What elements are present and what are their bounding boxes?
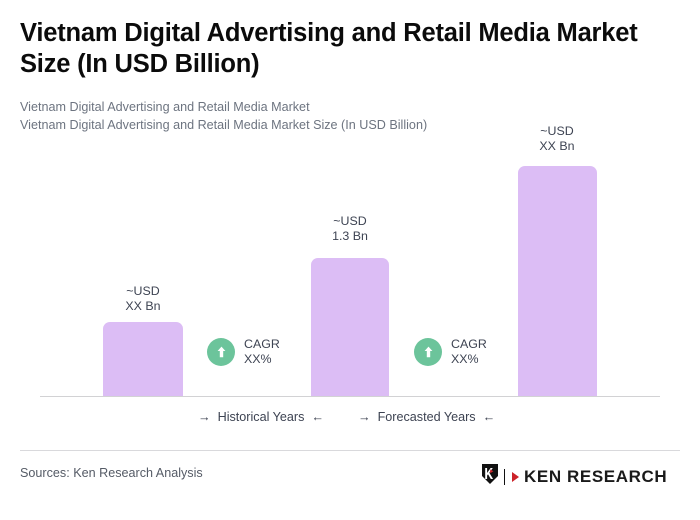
bar-forecast[interactable] xyxy=(518,166,597,396)
period-forecast-label: Forecasted Years xyxy=(378,410,476,424)
arrow-left-icon: ← xyxy=(311,411,324,424)
bar-label-2-line1: ~USD xyxy=(310,214,390,229)
cagr-forecast-line2: XX% xyxy=(451,352,479,366)
bar-label-1: ~USD XX Bn xyxy=(103,284,183,313)
cagr-historical-line1: CAGR xyxy=(244,337,280,351)
sources-text: Sources: Ken Research Analysis xyxy=(20,466,203,480)
bar-label-3: ~USD XX Bn xyxy=(517,124,597,153)
cagr-historical: CAGR XX% xyxy=(207,337,280,366)
bar-label-2-line2: 1.3 Bn xyxy=(310,229,390,244)
bar-label-3-line1: ~USD xyxy=(517,124,597,139)
cagr-historical-text: CAGR XX% xyxy=(244,337,280,366)
bar-label-3-line2: XX Bn xyxy=(517,139,597,154)
period-historical-label: Historical Years xyxy=(218,410,305,424)
arrow-right-icon: → xyxy=(198,411,211,424)
ken-research-logo: KEN RESEARCH xyxy=(481,463,667,490)
bar-label-1-line1: ~USD xyxy=(103,284,183,299)
red-triangle-icon xyxy=(512,472,519,482)
cagr-forecast: CAGR XX% xyxy=(414,337,487,366)
bar-label-2: ~USD 1.3 Bn xyxy=(310,214,390,243)
logo-divider xyxy=(504,469,505,485)
plot-area: ~USD XX Bn CAGR XX% ~USD 1.3 Bn xyxy=(0,0,700,440)
period-forecast: → Forecasted Years ← xyxy=(358,410,495,424)
cagr-forecast-text: CAGR XX% xyxy=(451,337,487,366)
cagr-forecast-line1: CAGR xyxy=(451,337,487,351)
chart-page: Vietnam Digital Advertising and Retail M… xyxy=(0,0,700,520)
cagr-historical-line2: XX% xyxy=(244,352,272,366)
arrow-right-icon: → xyxy=(358,411,371,424)
logo-wordmark: KEN RESEARCH xyxy=(524,467,667,487)
arrow-up-icon xyxy=(207,338,235,366)
axis-baseline xyxy=(40,396,660,397)
bar-current[interactable] xyxy=(311,258,389,396)
bar-historical[interactable] xyxy=(103,322,183,396)
footer-divider xyxy=(20,450,680,451)
period-historical: → Historical Years ← xyxy=(198,410,324,424)
arrow-left-icon: ← xyxy=(483,411,496,424)
arrow-up-icon xyxy=(414,338,442,366)
ken-research-shield-icon xyxy=(481,463,499,490)
bar-label-1-line2: XX Bn xyxy=(103,299,183,314)
